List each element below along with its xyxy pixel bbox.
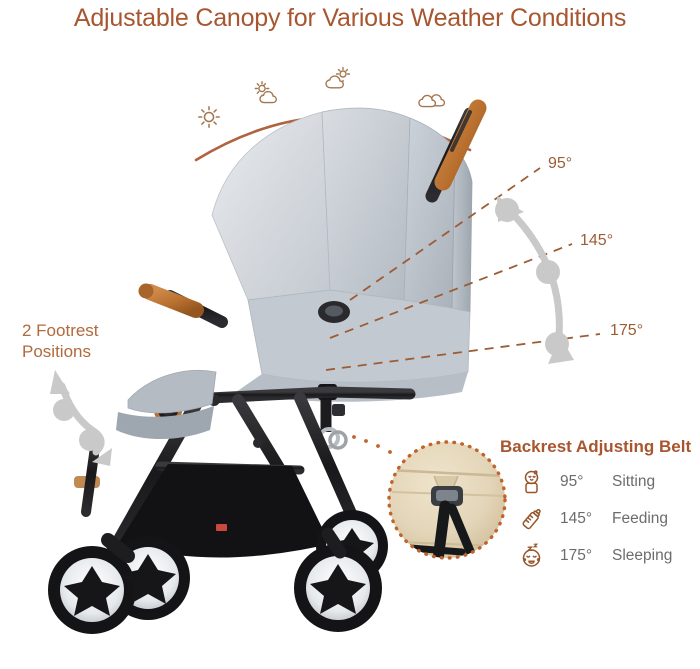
sun-behind-cloud-icon (322, 66, 354, 94)
sun-icon (196, 104, 222, 130)
frame-bolt-b (253, 438, 263, 448)
recline-marker-95 (495, 198, 519, 222)
backrest-panel-title: Backrest Adjusting Belt (500, 437, 691, 457)
canopy-panel-3 (404, 118, 455, 308)
basket-tag (216, 524, 227, 531)
backrest-mode-sleeping: Sleeping (612, 547, 672, 565)
sun-behind-cloud-icon (252, 80, 282, 108)
backrest-mode-sitting: Sitting (612, 473, 655, 491)
baby-bottle-icon (518, 505, 546, 533)
magnifier-connector-dot (364, 439, 368, 443)
backrest-mode-feeding: Feeding (612, 510, 668, 528)
clouds-icon (416, 86, 448, 112)
canopy-panel-1 (212, 112, 330, 300)
canopy (212, 108, 472, 402)
recline-arc-indicator (495, 196, 574, 364)
backrest-row-sitting: 95° Sitting (518, 468, 655, 496)
magnifier-connector-dot (376, 444, 380, 448)
recline-marker-145 (536, 260, 560, 284)
handlebar-front-grip (150, 292, 196, 310)
baby-sleeping-icon (518, 542, 546, 570)
backrest-angle-sleeping: 175° (560, 547, 608, 565)
footrest-fabric-upper (128, 370, 216, 413)
canopy-hinge-inner (325, 306, 343, 317)
magnifier-connector-dot (388, 450, 392, 454)
recline-angle-label-145: 145° (580, 232, 613, 250)
footrest-marker-1 (53, 399, 75, 421)
backrest-row-feeding: 145° Feeding (518, 505, 668, 533)
footrest-marker-2 (79, 429, 101, 451)
canopy-panel-2 (322, 108, 410, 300)
recline-angle-label-175: 175° (610, 322, 643, 340)
baby-sitting-icon (518, 468, 546, 496)
footrest-label-line1: 2 Footrest (22, 320, 172, 341)
footrest-label-line2: Positions (22, 341, 172, 362)
recline-marker-175 (545, 332, 569, 356)
handlebar-front (139, 284, 223, 323)
belt-slider (332, 404, 345, 416)
recline-angle-label-95: 95° (548, 155, 572, 173)
footrest-arrow-indicator (50, 370, 112, 466)
backrest-angle-sitting: 95° (560, 473, 608, 491)
backrest-angle-feeding: 145° (560, 510, 608, 528)
footrest-callout: 2 Footrest Positions (22, 320, 172, 362)
backrest-row-sleeping: 175° Sleeping (518, 542, 672, 570)
front-wheel-assembly (48, 536, 190, 634)
magnifier-buckle-face (436, 490, 458, 501)
magnifier-connector-dot (352, 435, 356, 439)
footrest-arrow-up (50, 370, 70, 394)
handlebar-front-cap (139, 284, 154, 299)
